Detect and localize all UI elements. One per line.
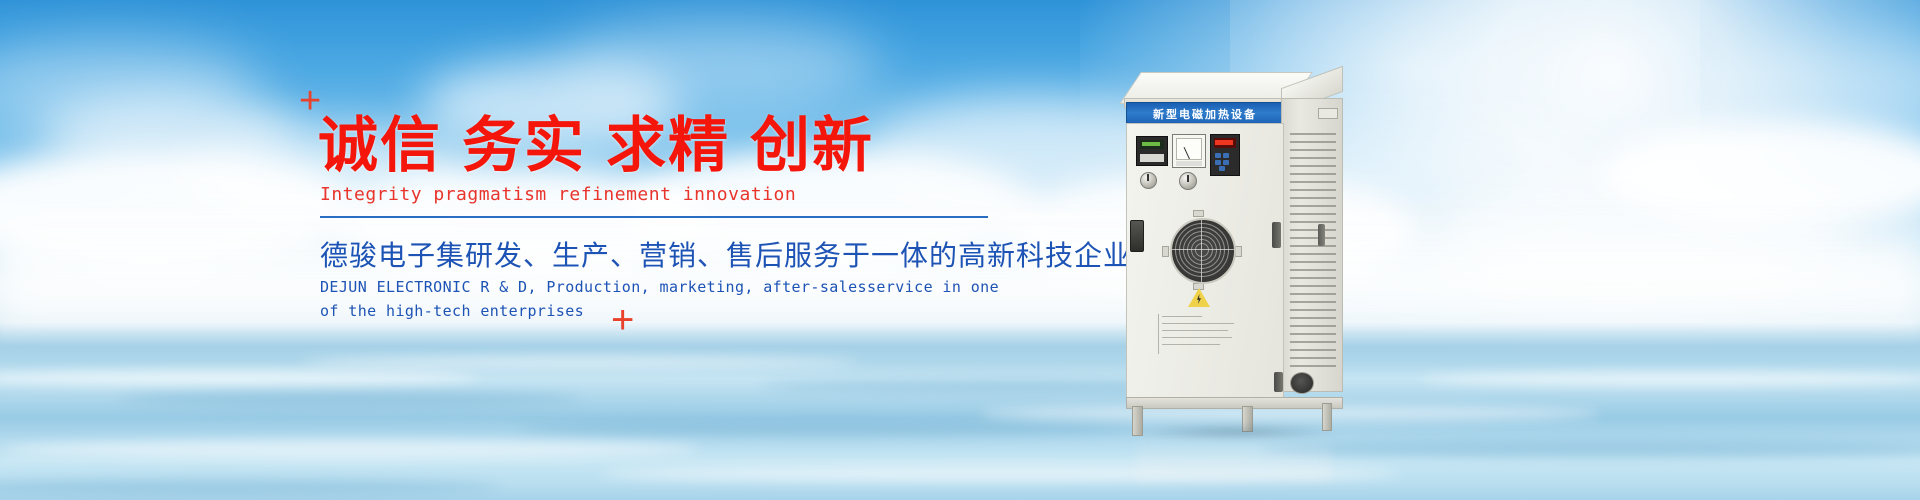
subtitle-english: DEJUN ELECTRONIC R & D, Production, mark…	[320, 275, 999, 323]
electrical-hazard-warning-icon	[1188, 288, 1210, 307]
machine-switch-plate	[1130, 220, 1144, 252]
divider	[320, 216, 988, 218]
product-image-heating-cabinet: 新型电磁加热设备	[1122, 72, 1352, 442]
machine-side-handle	[1318, 224, 1325, 246]
hero-banner: + + 诚信务实求精创新 Integrity pragmatism refine…	[0, 0, 1920, 500]
subtitle-english-line-1: DEJUN ELECTRONIC R & D, Production, mark…	[320, 275, 999, 299]
wave-highlight	[1420, 372, 1920, 386]
wave-shadow	[1260, 440, 1920, 458]
banner-text-block: + + 诚信务实求精创新 Integrity pragmatism refine…	[0, 0, 1100, 500]
headline-part-2: 务实	[462, 111, 586, 181]
cooling-fan-grille-icon	[1170, 218, 1236, 284]
selector-knob-icon	[1140, 172, 1157, 189]
tagline-english: Integrity pragmatism refinement innovati…	[320, 184, 796, 205]
headline-part-1: 诚信	[318, 111, 442, 181]
red-led-display-keypad-icon	[1210, 134, 1240, 176]
subtitle-chinese: 德骏电子集研发、生产、营销、售后服务于一体的高新科技企业	[320, 234, 1132, 274]
headline-part-4: 创新	[750, 111, 874, 181]
machine-spec-text-lines	[1162, 316, 1244, 351]
rotary-knob-icon	[1179, 172, 1197, 190]
digital-temperature-controller-icon	[1136, 136, 1168, 166]
machine-front-handle	[1272, 222, 1281, 248]
subtitle-english-line-2: of the high-tech enterprises	[320, 299, 999, 323]
machine-bottom-latch	[1274, 372, 1283, 392]
machine-side-plate	[1318, 108, 1338, 119]
machine-side-vent-panel	[1281, 98, 1343, 392]
machine-bottom-vent	[1290, 372, 1314, 394]
machine-spec-bracket	[1158, 314, 1159, 354]
headline-part-3: 求精	[606, 111, 730, 181]
machine-reflection	[1136, 434, 1331, 480]
product-label-text: 新型电磁加热设备	[1153, 106, 1257, 122]
analog-ammeter-icon	[1172, 134, 1206, 168]
page-title: 诚信务实求精创新	[318, 116, 874, 176]
machine-base	[1126, 397, 1343, 409]
